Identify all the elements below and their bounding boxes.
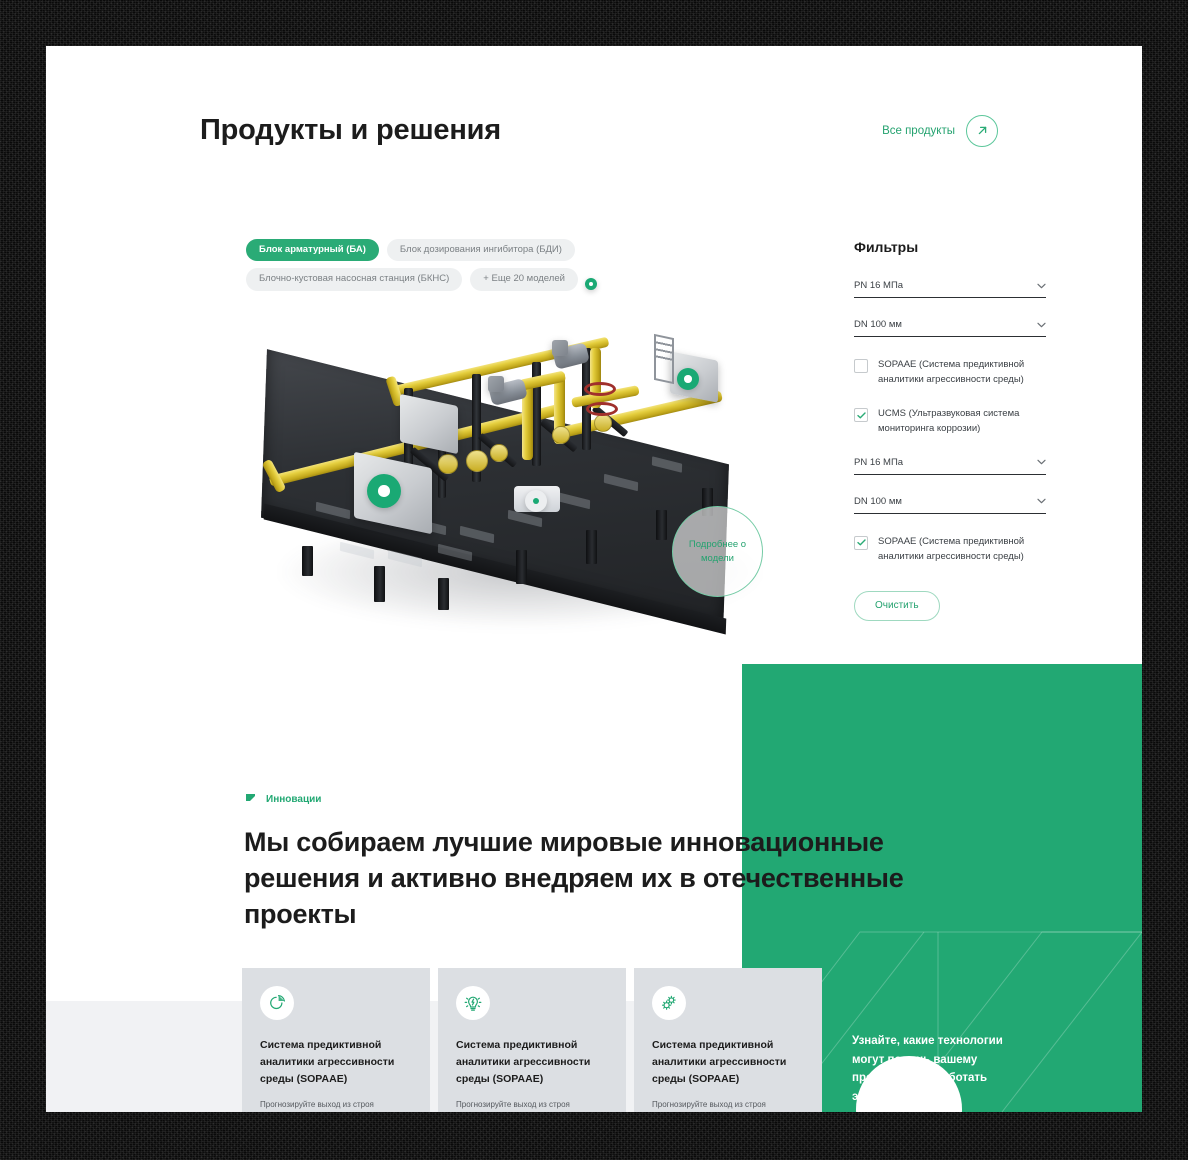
filters-title: Фильтры (854, 239, 1046, 255)
card-text: Прогнозируйте выход из строя компонентов… (456, 1098, 609, 1112)
pressure-select-top[interactable]: PN 16 МПа (854, 280, 1046, 298)
product-render-image: Подробнее о модели (242, 278, 802, 638)
chip-bkns[interactable]: Блочно-кустовая насосная станция (БКНС) (246, 268, 462, 290)
chevron-down-icon (1037, 283, 1046, 289)
check-icon (857, 539, 866, 546)
green-panel-text: Узнайте, какие технологии могут помочь в… (852, 1032, 1034, 1107)
checkbox-sopaae-1-label: SOPAAE (Система предиктивной аналитики а… (878, 358, 1046, 387)
section-tag-label: Инновации (266, 794, 321, 805)
model-filter-chips: Блок арматурный (БА) Блок дозирования ин… (246, 239, 766, 291)
innovation-card[interactable]: Система предиктивной аналитики агрессивн… (634, 968, 822, 1112)
arrow-up-right-icon[interactable] (966, 115, 998, 147)
more-info-button[interactable]: Подробнее о модели (672, 506, 763, 597)
chevron-down-icon (1037, 498, 1046, 504)
page-title: Продукты и решения (200, 114, 501, 147)
hotspot-marker-center[interactable] (525, 490, 547, 512)
pie-chart-icon (260, 986, 294, 1020)
card-text: Прогнозируйте выход из строя компонентов… (652, 1098, 805, 1112)
innovation-card[interactable]: Система предиктивной аналитики агрессивн… (242, 968, 430, 1112)
checkbox-box-checked[interactable] (854, 536, 868, 550)
card-title: Система предиктивной аналитики агрессивн… (652, 1037, 805, 1088)
pressure-select-top-value: PN 16 МПа (854, 280, 903, 291)
section-heading: Мы собираем лучшие мировые инновационные… (244, 824, 1004, 933)
checkbox-ucms-label: UCMS (Ультразвуковая система мониторинга… (878, 407, 1046, 436)
innovation-cards: Система предиктивной аналитики агрессивн… (242, 968, 822, 1112)
product-3d-viewer[interactable]: Подробнее о модели (242, 278, 802, 638)
checkbox-box-unchecked[interactable] (854, 359, 868, 373)
card-title: Система предиктивной аналитики агрессивн… (456, 1037, 609, 1088)
checkbox-sopaae-1[interactable]: SOPAAE (Система предиктивной аналитики а… (854, 358, 1046, 387)
innovation-card[interactable]: Система предиктивной аналитики агрессивн… (438, 968, 626, 1112)
chevron-down-icon (1037, 322, 1046, 328)
more-info-label: Подробнее о модели (686, 538, 750, 566)
chip-blok-armaturnyy[interactable]: Блок арматурный (БА) (246, 239, 379, 261)
pressure-select-bottom-value: PN 16 МПа (854, 457, 903, 468)
clear-filters-button[interactable]: Очистить (854, 591, 940, 621)
flag-icon (246, 794, 257, 805)
hotspot-marker-left[interactable] (367, 474, 401, 508)
all-products-label: Все продукты (882, 125, 955, 137)
chevron-down-icon (1037, 459, 1046, 465)
gears-icon (652, 986, 686, 1020)
diameter-select-bottom[interactable]: DN 100 мм (854, 496, 1046, 514)
pressure-select-bottom[interactable]: PN 16 МПа (854, 457, 1046, 475)
card-title: Система предиктивной аналитики агрессивн… (260, 1037, 413, 1088)
page-header: Продукты и решения Все продукты (200, 114, 998, 147)
lightbulb-icon (456, 986, 490, 1020)
filters-panel: Фильтры PN 16 МПа DN 100 мм SOPAAE (Сист… (854, 239, 1046, 621)
checkbox-box-checked[interactable] (854, 408, 868, 422)
diameter-select-top[interactable]: DN 100 мм (854, 319, 1046, 337)
diameter-select-top-value: DN 100 мм (854, 319, 902, 330)
checkbox-sopaae-2[interactable]: SOPAAE (Система предиктивной аналитики а… (854, 535, 1046, 564)
chip-more-models[interactable]: + Еще 20 моделей (470, 268, 578, 290)
check-icon (857, 412, 866, 419)
section-tag: Инновации (246, 794, 321, 805)
card-text: Прогнозируйте выход из строя компонентов… (260, 1098, 413, 1112)
all-products-link[interactable]: Все продукты (882, 115, 998, 147)
chip-blok-dozirovaniya[interactable]: Блок дозирования ингибитора (БДИ) (387, 239, 575, 261)
page-canvas: Продукты и решения Все продукты Блок арм… (46, 46, 1142, 1112)
checkbox-sopaae-2-label: SOPAAE (Система предиктивной аналитики а… (878, 535, 1046, 564)
checkbox-ucms[interactable]: UCMS (Ультразвуковая система мониторинга… (854, 407, 1046, 436)
diameter-select-bottom-value: DN 100 мм (854, 496, 902, 507)
hotspot-marker-right[interactable] (677, 368, 699, 390)
